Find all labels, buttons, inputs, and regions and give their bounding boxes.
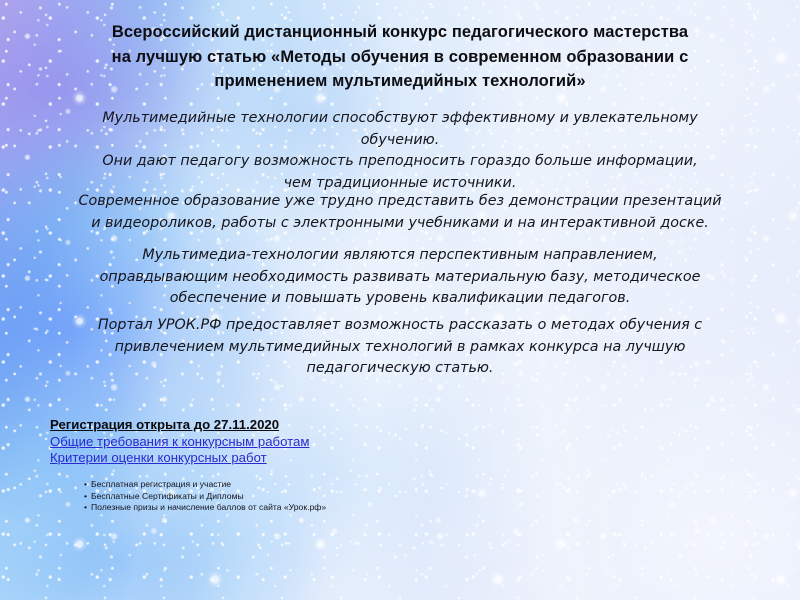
- paragraph-line: Современное образование уже трудно предс…: [72, 191, 728, 213]
- paragraph-line: Мультимедиа-технологии являются перспект…: [72, 245, 728, 267]
- perk-item: •Бесплатная регистрация и участие: [84, 479, 326, 491]
- bullet-icon: •: [84, 491, 91, 503]
- body-paragraph-3: Мультимедиа-технологии являются перспект…: [72, 245, 728, 310]
- perk-label: Бесплатные Сертификаты и Дипломы: [91, 491, 244, 501]
- paragraph-line: обеспечение и повышать уровень квалифика…: [72, 288, 728, 310]
- presentation-slide: Всероссийский дистанционный конкурс педа…: [0, 0, 800, 600]
- perk-item: •Полезные призы и начисление баллов от с…: [84, 502, 326, 514]
- paragraph-line: педагогическую статью.: [72, 358, 728, 380]
- registration-deadline: Регистрация открыта до 27.11.2020: [50, 417, 309, 434]
- paragraph-line: Они дают педагогу возможность преподноси…: [72, 151, 728, 173]
- body-paragraph-1: Мультимедийные технологии способствуют э…: [72, 108, 728, 194]
- body-paragraph-2: Современное образование уже трудно предс…: [72, 191, 728, 234]
- paragraph-line: обучению.: [72, 130, 728, 152]
- slide-title-line: на лучшую статью «Методы обучения в совр…: [96, 45, 704, 70]
- bullet-icon: •: [84, 479, 91, 491]
- perks-list: •Бесплатная регистрация и участие •Беспл…: [84, 479, 326, 514]
- paragraph-line: и видеороликов, работы с электронными уч…: [72, 213, 728, 235]
- paragraph-line: Портал УРОК.РФ предоставляет возможность…: [72, 315, 728, 337]
- bullet-icon: •: [84, 502, 91, 514]
- paragraph-line: Мультимедийные технологии способствуют э…: [72, 108, 728, 130]
- perk-item: •Бесплатные Сертификаты и Дипломы: [84, 491, 326, 503]
- perk-label: Бесплатная регистрация и участие: [91, 479, 231, 489]
- link-evaluation-criteria[interactable]: Критерии оценки конкурсных работ: [50, 450, 309, 467]
- registration-block: Регистрация открыта до 27.11.2020 Общие …: [50, 417, 309, 467]
- paragraph-line: оправдывающим необходимость развивать ма…: [72, 267, 728, 289]
- slide-title: Всероссийский дистанционный конкурс педа…: [96, 20, 704, 94]
- link-general-requirements[interactable]: Общие требования к конкурсным работам: [50, 434, 309, 451]
- slide-content: Всероссийский дистанционный конкурс педа…: [0, 0, 800, 600]
- perk-label: Полезные призы и начисление баллов от са…: [91, 502, 326, 512]
- slide-title-line: применением мультимедийных технологий»: [96, 69, 704, 94]
- body-paragraph-4: Портал УРОК.РФ предоставляет возможность…: [72, 315, 728, 380]
- paragraph-line: привлечением мультимедийных технологий в…: [72, 337, 728, 359]
- slide-title-line: Всероссийский дистанционный конкурс педа…: [96, 20, 704, 45]
